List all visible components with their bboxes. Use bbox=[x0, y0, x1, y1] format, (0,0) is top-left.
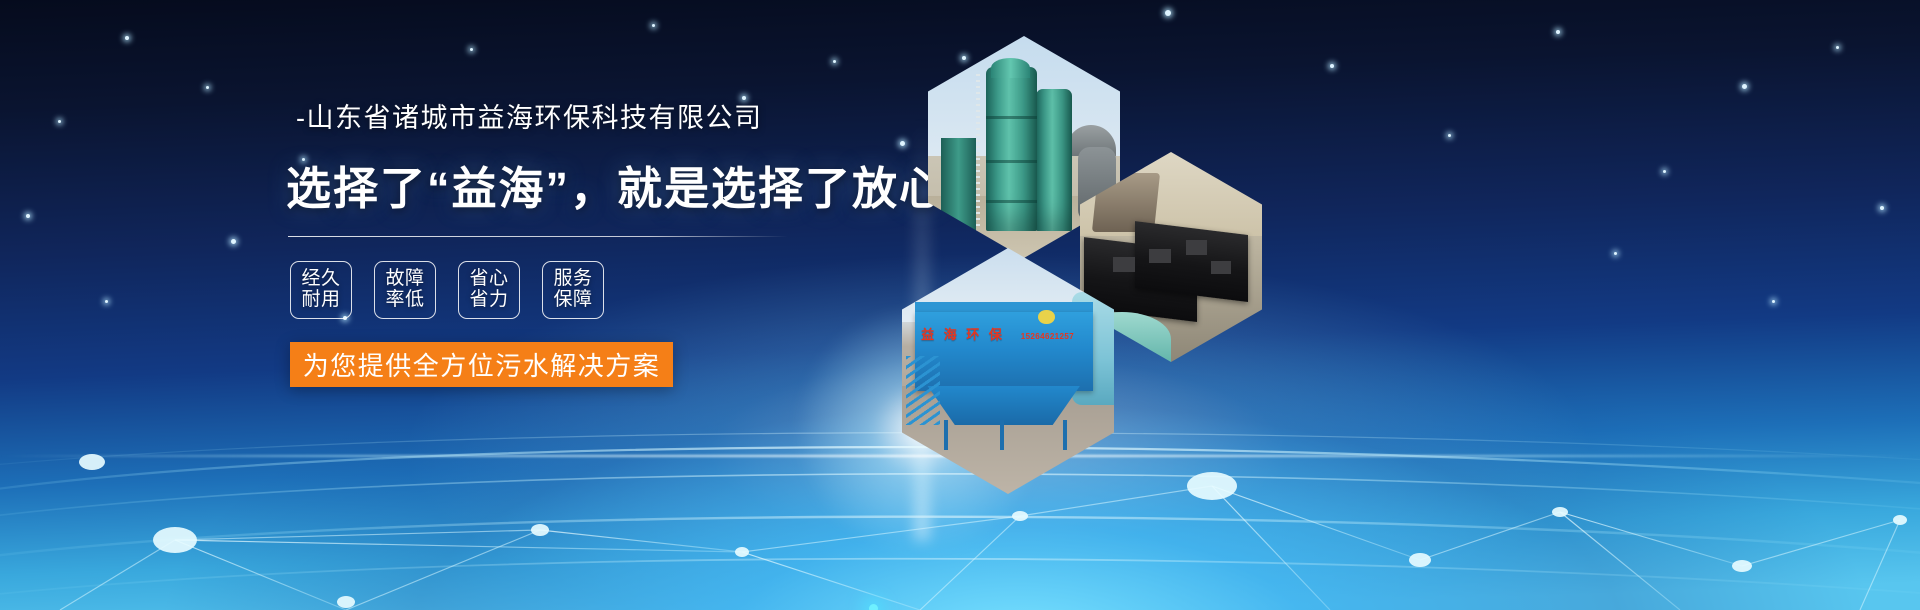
badge-line-2: 保障 bbox=[553, 290, 592, 311]
badge-line-1: 省心 bbox=[469, 269, 508, 290]
feature-badge-durability[interactable]: 经久 耐用 bbox=[290, 261, 352, 319]
network-spark bbox=[869, 604, 878, 610]
badge-line-2: 率低 bbox=[385, 290, 424, 311]
badge-line-1: 故障 bbox=[385, 269, 424, 290]
badge-line-2: 省力 bbox=[469, 290, 508, 311]
hexagon-photo-collage: 益 海 环 保 15264621257 bbox=[880, 0, 1440, 610]
banner-copy: -山东省诸城市益海环保科技有限公司 选择了“益海”，就是选择了放心 经久 耐用 … bbox=[286, 96, 906, 387]
feature-badge-list: 经久 耐用 故障 率低 省心 省力 服务 保障 bbox=[290, 261, 906, 319]
badge-line-1: 服务 bbox=[553, 269, 592, 290]
feature-badge-effortless[interactable]: 省心 省力 bbox=[458, 261, 520, 319]
company-subtitle: -山东省诸城市益海环保科技有限公司 bbox=[286, 96, 906, 135]
equipment-phone-text: 15264621257 bbox=[1021, 332, 1074, 341]
cta-button[interactable]: 为您提供全方位污水解决方案 bbox=[290, 342, 673, 387]
feature-badge-low-failure[interactable]: 故障 率低 bbox=[374, 261, 436, 319]
feature-badge-service[interactable]: 服务 保障 bbox=[542, 261, 604, 319]
badge-line-2: 耐用 bbox=[301, 290, 340, 311]
banner-headline: 选择了“益海”，就是选择了放心 bbox=[286, 152, 906, 217]
headline-divider bbox=[288, 236, 788, 237]
badge-line-1: 经久 bbox=[301, 269, 340, 290]
promotional-banner: -山东省诸城市益海环保科技有限公司 选择了“益海”，就是选择了放心 经久 耐用 … bbox=[0, 0, 1920, 610]
